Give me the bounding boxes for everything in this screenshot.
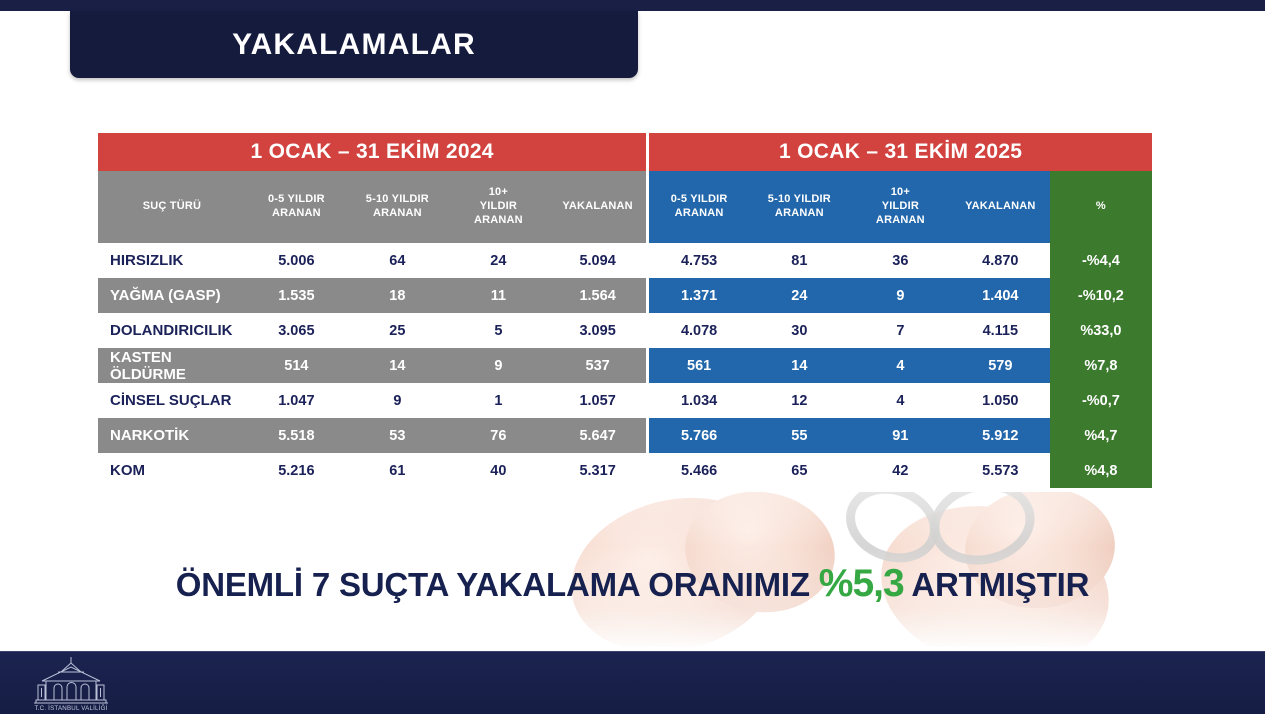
cell-2024-caught: 1.564 (549, 278, 648, 313)
government-building-icon: T.C. İSTANBUL VALİLİĞİ (28, 655, 114, 711)
cell-crime-type: YAĞMA (GASP) (98, 278, 246, 313)
cell-crime-type: KASTEN ÖLDÜRME (98, 348, 246, 383)
cell-2024-caught: 537 (549, 348, 648, 383)
cell-2024-wanted-0-5: 514 (246, 348, 347, 383)
period-header-2025: 1 OCAK – 31 EKİM 2025 (648, 133, 1152, 171)
col-header-2025-caught: YAKALANAN (951, 171, 1050, 243)
cell-2025-wanted-5-10: 65 (749, 453, 850, 488)
cell-2025-wanted-10-plus: 4 (850, 348, 951, 383)
cell-crime-type: NARKOTİK (98, 418, 246, 453)
cell-2025-wanted-10-plus: 36 (850, 243, 951, 278)
cell-2024-wanted-10-plus: 76 (448, 418, 549, 453)
cell-2024-wanted-0-5: 5.518 (246, 418, 347, 453)
cell-crime-type: DOLANDIRICILIK (98, 313, 246, 348)
cell-crime-type: HIRSIZLIK (98, 243, 246, 278)
cell-crime-type: CİNSEL SUÇLAR (98, 383, 246, 418)
cell-2024-wanted-10-plus: 40 (448, 453, 549, 488)
cell-2025-caught: 579 (951, 348, 1050, 383)
header-line: 10+ (489, 186, 508, 198)
col-header-2024-wanted-5-10: 5-10 YILDIR ARANAN (347, 171, 448, 243)
cell-2025-wanted-10-plus: 91 (850, 418, 951, 453)
cell-2024-wanted-0-5: 5.216 (246, 453, 347, 488)
table-row[interactable]: YAĞMA (GASP) 1.535 18 11 1.564 1.371 24 … (98, 278, 1152, 313)
cell-2025-caught: 4.870 (951, 243, 1050, 278)
period-header-2024: 1 OCAK – 31 EKİM 2024 (98, 133, 648, 171)
cell-2025-caught: 1.050 (951, 383, 1050, 418)
col-header-percent: % (1050, 171, 1152, 243)
cell-2025-wanted-10-plus: 42 (850, 453, 951, 488)
cell-2025-wanted-5-10: 55 (749, 418, 850, 453)
cell-2024-wanted-0-5: 1.535 (246, 278, 347, 313)
cell-2024-caught: 3.095 (549, 313, 648, 348)
header-line: 5-10 YILDIR (366, 193, 429, 205)
col-header-2025-wanted-10-plus: 10+ YILDIR ARANAN (850, 171, 951, 243)
cell-2025-caught: 1.404 (951, 278, 1050, 313)
arrests-table: 1 OCAK – 31 EKİM 2024 1 OCAK – 31 EKİM 2… (98, 133, 1152, 488)
cell-2024-wanted-10-plus: 11 (448, 278, 549, 313)
cell-2025-wanted-10-plus: 9 (850, 278, 951, 313)
cell-percent-change: %4,7 (1050, 418, 1152, 453)
cell-2024-wanted-5-10: 18 (347, 278, 448, 313)
col-header-2024-wanted-10-plus: 10+ YILDIR ARANAN (448, 171, 549, 243)
cell-percent-change: -%10,2 (1050, 278, 1152, 313)
cell-2024-wanted-5-10: 25 (347, 313, 448, 348)
cell-2024-wanted-5-10: 9 (347, 383, 448, 418)
col-header-crime-type: SUÇ TÜRÜ (98, 171, 246, 243)
cell-percent-change: -%0,7 (1050, 383, 1152, 418)
cell-2024-wanted-0-5: 3.065 (246, 313, 347, 348)
cell-2024-wanted-5-10: 64 (347, 243, 448, 278)
table-row[interactable]: DOLANDIRICILIK 3.065 25 5 3.095 4.078 30… (98, 313, 1152, 348)
table-row[interactable]: KASTEN ÖLDÜRME 514 14 9 537 561 14 4 579… (98, 348, 1152, 383)
header-line: ARANAN (373, 207, 422, 219)
cell-2025-wanted-0-5: 1.034 (648, 383, 749, 418)
table-row[interactable]: CİNSEL SUÇLAR 1.047 9 1 1.057 1.034 12 4… (98, 383, 1152, 418)
arrests-table-wrapper: 1 OCAK – 31 EKİM 2024 1 OCAK – 31 EKİM 2… (98, 133, 1152, 488)
period-header-row: 1 OCAK – 31 EKİM 2024 1 OCAK – 31 EKİM 2… (98, 133, 1152, 171)
cell-2025-wanted-0-5: 561 (648, 348, 749, 383)
cell-2024-wanted-5-10: 61 (347, 453, 448, 488)
slogan-prefix: ÖNEMLİ 7 SUÇTA YAKALAMA ORANIMIZ (176, 566, 819, 603)
cell-2024-caught: 5.094 (549, 243, 648, 278)
col-header-2025-wanted-5-10: 5-10 YILDIR ARANAN (749, 171, 850, 243)
cell-percent-change: %33,0 (1050, 313, 1152, 348)
slide-root: YAKALAMALAR 1 OCAK – 31 EKİM 2024 1 OCAK… (0, 0, 1265, 714)
header-line: 0-5 YILDIR (268, 193, 325, 205)
cell-2025-wanted-10-plus: 4 (850, 383, 951, 418)
cell-2024-wanted-0-5: 5.006 (246, 243, 347, 278)
cell-2025-wanted-0-5: 5.466 (648, 453, 749, 488)
top-navy-strip (0, 0, 1265, 11)
table-head: 1 OCAK – 31 EKİM 2024 1 OCAK – 31 EKİM 2… (98, 133, 1152, 243)
cell-2025-wanted-5-10: 12 (749, 383, 850, 418)
header-line: ARANAN (474, 214, 523, 226)
column-header-row: SUÇ TÜRÜ 0-5 YILDIR ARANAN 5-10 YILDIR A… (98, 171, 1152, 243)
cell-2025-wanted-5-10: 30 (749, 313, 850, 348)
cell-2024-wanted-0-5: 1.047 (246, 383, 347, 418)
col-header-2024-caught: YAKALANAN (549, 171, 648, 243)
page-title: YAKALAMALAR (232, 28, 476, 62)
header-line: YILDIR (882, 200, 919, 212)
cell-2024-wanted-5-10: 14 (347, 348, 448, 383)
table-row[interactable]: NARKOTİK 5.518 53 76 5.647 5.766 55 91 5… (98, 418, 1152, 453)
col-header-2025-wanted-0-5: 0-5 YILDIR ARANAN (648, 171, 749, 243)
cell-2024-wanted-10-plus: 24 (448, 243, 549, 278)
cell-2025-wanted-0-5: 4.078 (648, 313, 749, 348)
cell-2024-wanted-10-plus: 1 (448, 383, 549, 418)
cell-2024-caught: 5.647 (549, 418, 648, 453)
table-body: HIRSIZLIK 5.006 64 24 5.094 4.753 81 36 … (98, 243, 1152, 488)
cell-2025-wanted-0-5: 1.371 (648, 278, 749, 313)
header-line: ARANAN (775, 207, 824, 219)
cell-2025-caught: 5.573 (951, 453, 1050, 488)
table-row[interactable]: KOM 5.216 61 40 5.317 5.466 65 42 5.573 … (98, 453, 1152, 488)
slogan-suffix: ARTMIŞTIR (904, 566, 1090, 603)
table-row[interactable]: HIRSIZLIK 5.006 64 24 5.094 4.753 81 36 … (98, 243, 1152, 278)
cell-percent-change: -%4,4 (1050, 243, 1152, 278)
cell-2024-caught: 1.057 (549, 383, 648, 418)
cell-2024-wanted-5-10: 53 (347, 418, 448, 453)
header-line: 5-10 YILDIR (768, 193, 831, 205)
cell-2025-wanted-0-5: 5.766 (648, 418, 749, 453)
slogan-highlight-value: %5,3 (819, 562, 904, 605)
cell-2025-wanted-5-10: 14 (749, 348, 850, 383)
cell-crime-type: KOM (98, 453, 246, 488)
cell-2025-wanted-10-plus: 7 (850, 313, 951, 348)
header-line: YILDIR (480, 200, 517, 212)
cell-2024-caught: 5.317 (549, 453, 648, 488)
logo-caption: T.C. İSTANBUL VALİLİĞİ (34, 705, 107, 711)
header-line: 10+ (891, 186, 910, 198)
header-line: ARANAN (272, 207, 321, 219)
cell-2025-caught: 4.115 (951, 313, 1050, 348)
header-line: ARANAN (876, 214, 925, 226)
footer-bar (0, 651, 1265, 714)
cell-percent-change: %4,8 (1050, 453, 1152, 488)
cell-2025-wanted-0-5: 4.753 (648, 243, 749, 278)
cell-2024-wanted-10-plus: 5 (448, 313, 549, 348)
cell-2025-wanted-5-10: 81 (749, 243, 850, 278)
cell-percent-change: %7,8 (1050, 348, 1152, 383)
col-header-2024-wanted-0-5: 0-5 YILDIR ARANAN (246, 171, 347, 243)
istanbul-governorship-logo: T.C. İSTANBUL VALİLİĞİ (28, 655, 114, 711)
slide-title-plaque: YAKALAMALAR (70, 11, 638, 78)
header-line: 0-5 YILDIR (671, 193, 728, 205)
cell-2024-wanted-10-plus: 9 (448, 348, 549, 383)
header-line: ARANAN (675, 207, 724, 219)
cell-2025-caught: 5.912 (951, 418, 1050, 453)
cell-2025-wanted-5-10: 24 (749, 278, 850, 313)
summary-slogan: ÖNEMLİ 7 SUÇTA YAKALAMA ORANIMIZ %5,3 AR… (0, 562, 1265, 606)
